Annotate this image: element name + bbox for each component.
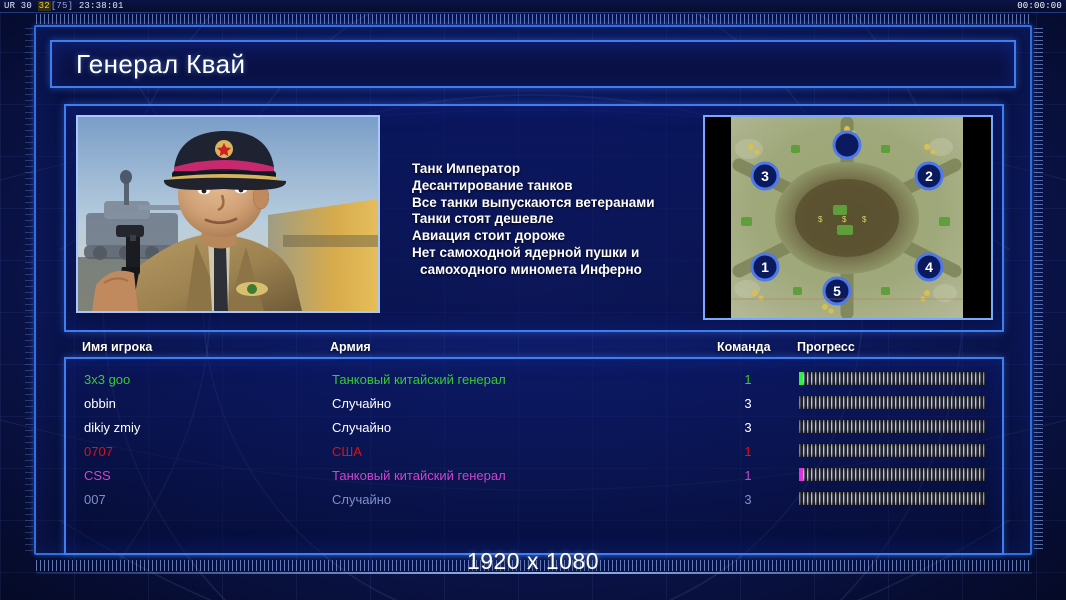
description-line: Десантирование танков (412, 178, 712, 195)
player-team: 1 (738, 444, 758, 459)
table-row[interactable]: CSS Танковый китайский генерал 1 (66, 463, 1002, 487)
svg-text:5: 5 (833, 283, 841, 299)
player-army: Танковый китайский генерал (332, 468, 506, 483)
page-title: Генерал Квай (52, 49, 245, 80)
general-description: Танк Император Десантирование танков Все… (412, 161, 712, 279)
table-row[interactable]: 3x3 goo Танковый китайский генерал 1 (66, 367, 1002, 391)
game-lobby-screen: UR 30 32[75] 23:38:01 00:00:00 Генерал К… (0, 0, 1066, 600)
player-army: Случайно (332, 396, 391, 411)
stat-highlight: 32 (38, 1, 51, 11)
general-title-bar: Генерал Квай (50, 40, 1016, 88)
description-line: Танки стоят дешевле (412, 211, 712, 228)
player-army: Случайно (332, 492, 391, 507)
table-row[interactable]: 007 Случайно 3 (66, 487, 1002, 511)
svg-text:$: $ (842, 215, 847, 224)
stat-time: 23:38:01 (73, 1, 123, 11)
player-name: CSS (84, 468, 111, 483)
description-line: Танк Император (412, 161, 712, 178)
player-name: 3x3 goo (84, 372, 130, 387)
player-list-panel: 3x3 goo Танковый китайский генерал 1 obb… (64, 357, 1004, 555)
svg-text:1: 1 (761, 259, 769, 275)
svg-text:4: 4 (925, 259, 933, 275)
network-stat: UR 30 32[75] 23:38:01 (4, 1, 124, 12)
progress-lead-marker (799, 372, 803, 385)
description-line: самоходного миномета Инферно (412, 262, 712, 279)
player-progress-bar (799, 396, 985, 409)
ruler-top-ticks (36, 14, 1032, 24)
general-portrait (76, 115, 380, 313)
player-progress-bar (799, 492, 985, 505)
table-row[interactable]: 0707 США 1 (66, 439, 1002, 463)
bottom-divider (36, 572, 1032, 574)
resolution-text: 1920 x 1080 (467, 548, 599, 574)
player-army: США (332, 444, 362, 459)
column-header-army: Армия (330, 340, 371, 354)
player-progress-bar (799, 444, 985, 457)
resolution-label: 1920 x 1080 (0, 548, 1066, 575)
stat-prefix: UR 30 (4, 1, 38, 11)
player-name: 007 (84, 492, 106, 507)
player-progress-bar (799, 372, 985, 385)
player-table-header: Имя игрока Армия Команда Прогресс (64, 340, 1004, 356)
player-team: 1 (738, 468, 758, 483)
player-progress-bar (799, 468, 985, 481)
column-header-progress: Прогресс (797, 340, 855, 354)
player-name: dikiy zmiy (84, 420, 140, 435)
progress-lead-marker (799, 468, 803, 481)
svg-text:$: $ (818, 215, 823, 224)
player-army: Танковый китайский генерал (332, 372, 506, 387)
description-line: Нет самоходной ядерной пушки и (412, 245, 712, 262)
general-info-panel: Танк Император Десантирование танков Все… (64, 104, 1004, 332)
player-team: 3 (738, 396, 758, 411)
ruler-left-ticks (25, 28, 33, 552)
map-preview[interactable]: $ $ $ 1 2 3 4 5 (703, 115, 993, 320)
player-name: 0707 (84, 444, 113, 459)
svg-text:$: $ (862, 215, 867, 224)
table-row[interactable]: dikiy zmiy Случайно 3 (66, 415, 1002, 439)
status-bar: UR 30 32[75] 23:38:01 00:00:00 (0, 0, 1066, 13)
stat-brackets: [75] (51, 1, 73, 11)
game-clock: 00:00:00 (1017, 1, 1062, 12)
player-team: 3 (738, 420, 758, 435)
player-name: obbin (84, 396, 116, 411)
svg-text:2: 2 (925, 168, 933, 184)
player-team: 1 (738, 372, 758, 387)
description-line: Авиация стоит дороже (412, 228, 712, 245)
player-progress-bar (799, 420, 985, 433)
svg-text:3: 3 (761, 168, 769, 184)
table-row[interactable]: obbin Случайно 3 (66, 391, 1002, 415)
description-line: Все танки выпускаются ветеранами (412, 195, 712, 212)
player-army: Случайно (332, 420, 391, 435)
column-header-name: Имя игрока (82, 340, 152, 354)
ruler-right-ticks (1034, 28, 1043, 552)
column-header-team: Команда (717, 340, 771, 354)
player-team: 3 (738, 492, 758, 507)
